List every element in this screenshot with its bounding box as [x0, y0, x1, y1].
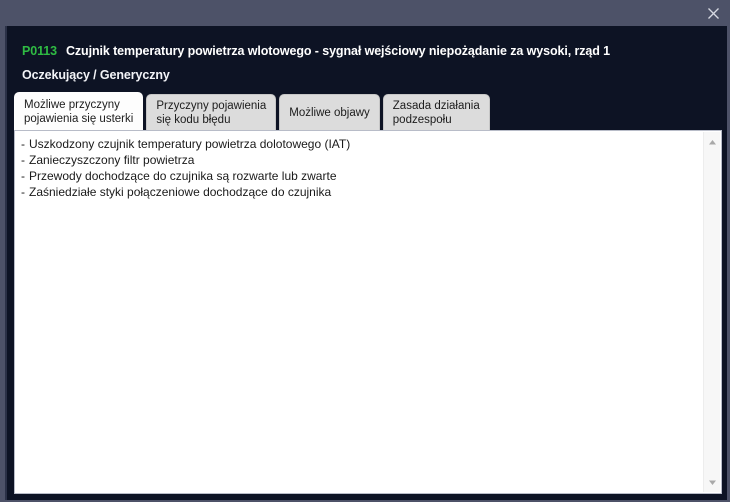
list-item: -Zaśniedziałe styki połączeniowe dochodz… — [21, 184, 701, 200]
list-bullet: - — [21, 169, 25, 183]
tab-label-line2: podzespołu — [393, 113, 452, 127]
list-item-text: Uszkodzony czujnik temperatury powietrza… — [29, 137, 350, 151]
close-icon — [707, 7, 720, 20]
dtc-code-line: P0113Czujnik temperatury powietrza wloto… — [22, 44, 610, 58]
chevron-up-icon — [708, 139, 717, 146]
dtc-status: Oczekujący / Generyczny — [22, 68, 170, 82]
tab-label-line2: pojawienia się usterki — [24, 112, 133, 126]
dtc-panel: P0113Czujnik temperatury powietrza wloto… — [5, 26, 727, 500]
dtc-code: P0113 — [22, 44, 57, 58]
scrollbar-up-button[interactable] — [704, 134, 720, 150]
list-item-text: Zaśniedziałe styki połączeniowe dochodzą… — [29, 185, 331, 199]
tab-possible-causes[interactable]: Możliwe przyczyny pojawienia się usterki — [14, 92, 143, 130]
list-bullet: - — [21, 153, 25, 167]
tab-code-reasons[interactable]: Przyczyny pojawienia się kodu błędu — [146, 94, 276, 130]
dtc-header: P0113Czujnik temperatury powietrza wloto… — [7, 26, 727, 92]
chevron-down-icon — [708, 479, 717, 486]
tab-label-line1: Możliwe objawy — [289, 106, 370, 120]
tab-label-line2: się kodu błędu — [156, 113, 230, 127]
tab-label-line1: Możliwe przyczyny — [24, 98, 120, 112]
cause-list: -Uszkodzony czujnik temperatury powietrz… — [21, 136, 701, 200]
tab-label-line1: Przyczyny pojawienia — [156, 99, 266, 113]
tab-strip: Możliwe przyczyny pojawienia się usterki… — [14, 92, 490, 130]
list-item: -Uszkodzony czujnik temperatury powietrz… — [21, 136, 701, 152]
list-bullet: - — [21, 137, 25, 151]
list-item: -Zanieczyszczony filtr powietrza — [21, 152, 701, 168]
dtc-info-window: P0113Czujnik temperatury powietrza wloto… — [0, 0, 730, 502]
tab-component-operation[interactable]: Zasada działania podzespołu — [383, 94, 490, 130]
dtc-description: Czujnik temperatury powietrza wlotowego … — [66, 44, 610, 58]
scrollbar-down-button[interactable] — [704, 474, 720, 490]
list-item: -Przewody dochodzące do czujnika są rozw… — [21, 168, 701, 184]
list-bullet: - — [21, 185, 25, 199]
content-pane: -Uszkodzony czujnik temperatury powietrz… — [14, 130, 722, 494]
list-item-text: Przewody dochodzące do czujnika są rozwa… — [29, 169, 337, 183]
tab-label-line1: Zasada działania — [393, 99, 480, 113]
list-item-text: Zanieczyszczony filtr powietrza — [29, 153, 194, 167]
vertical-scrollbar[interactable] — [703, 132, 720, 492]
tab-possible-symptoms[interactable]: Możliwe objawy — [279, 94, 380, 130]
close-button[interactable] — [698, 1, 728, 25]
window-titlebar — [0, 0, 730, 26]
